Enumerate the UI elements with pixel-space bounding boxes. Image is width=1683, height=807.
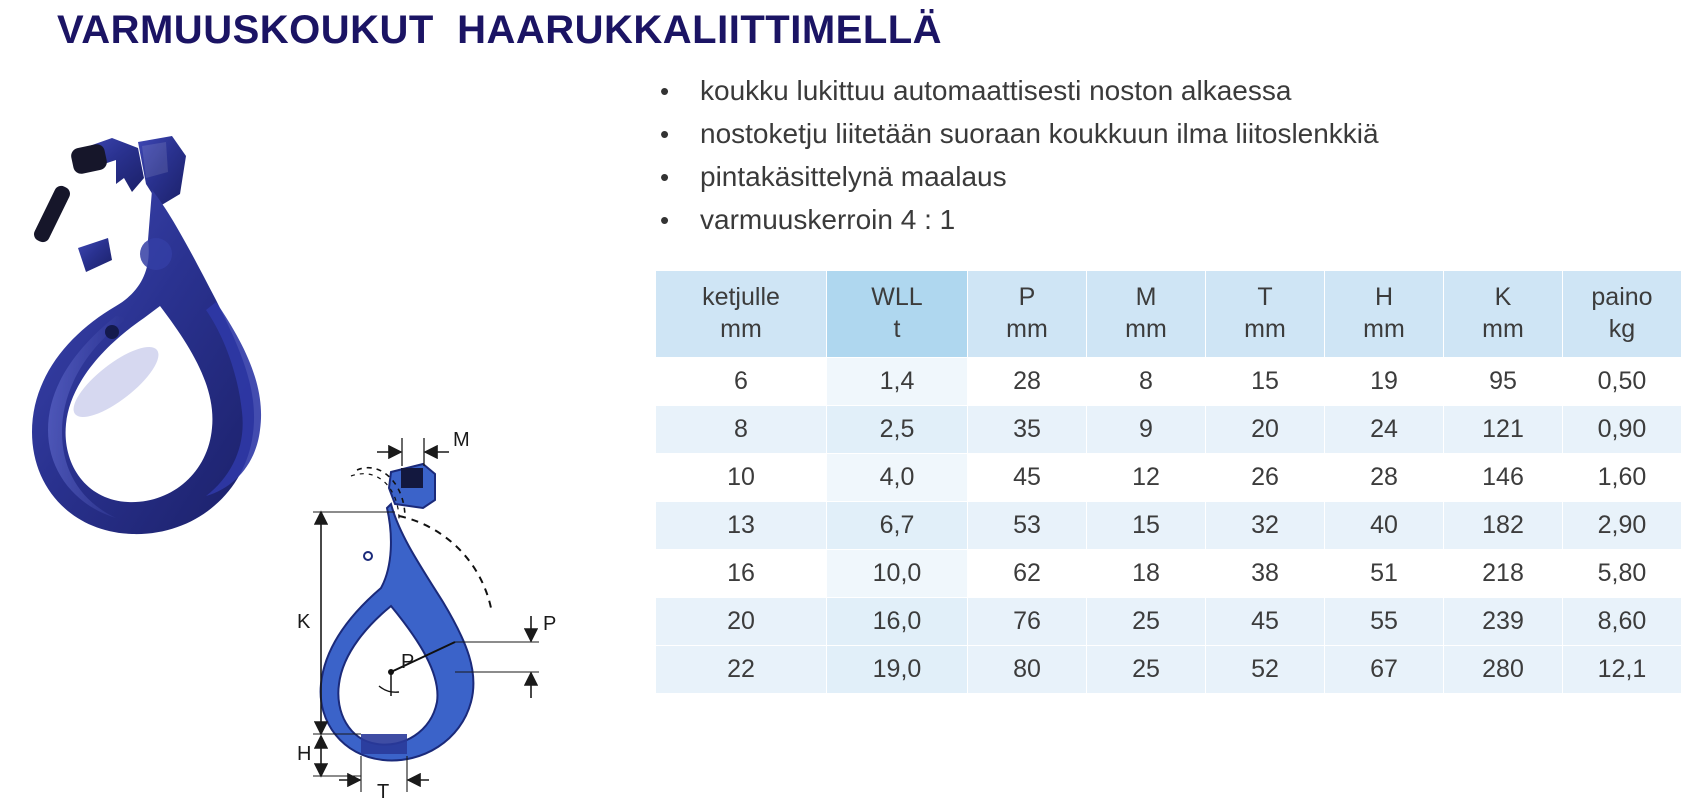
cell-m: 9 bbox=[1087, 406, 1206, 454]
feature-list: • koukku lukittuu automaattisesti noston… bbox=[660, 72, 1560, 244]
header-line2: mm bbox=[1325, 313, 1443, 345]
list-item: • koukku lukittuu automaattisesti noston… bbox=[660, 72, 1560, 110]
cell-paino: 1,60 bbox=[1563, 454, 1682, 502]
cell-m: 18 bbox=[1087, 550, 1206, 598]
bullet-icon: • bbox=[660, 74, 700, 108]
cell-k: 280 bbox=[1444, 646, 1563, 694]
cell-paino: 0,90 bbox=[1563, 406, 1682, 454]
cell-p: 53 bbox=[968, 502, 1087, 550]
cell-m: 12 bbox=[1087, 454, 1206, 502]
cell-t: 20 bbox=[1206, 406, 1325, 454]
table-header-t: T mm bbox=[1206, 271, 1325, 358]
header-line2: mm bbox=[1444, 313, 1562, 345]
cell-k: 239 bbox=[1444, 598, 1563, 646]
table-row: 22 19,0 80 25 52 67 280 12,1 bbox=[656, 646, 1682, 694]
cell-ketjulle: 6 bbox=[656, 358, 827, 406]
header-line2: t bbox=[827, 313, 967, 345]
table-row: 8 2,5 35 9 20 24 121 0,90 bbox=[656, 406, 1682, 454]
table-row: 10 4,0 45 12 26 28 146 1,60 bbox=[656, 454, 1682, 502]
cell-ketjulle: 20 bbox=[656, 598, 827, 646]
header-line1: paino bbox=[1591, 283, 1652, 311]
header-line2: mm bbox=[656, 313, 826, 345]
cell-h: 28 bbox=[1325, 454, 1444, 502]
table-header-ketjulle: ketjulle mm bbox=[656, 271, 827, 358]
cell-m: 15 bbox=[1087, 502, 1206, 550]
list-item-label: nostoketju liitetään suoraan koukkuun il… bbox=[700, 115, 1379, 153]
cell-t: 32 bbox=[1206, 502, 1325, 550]
header-line1: K bbox=[1495, 283, 1512, 311]
cell-k: 218 bbox=[1444, 550, 1563, 598]
cell-ketjulle: 10 bbox=[656, 454, 827, 502]
header-line1: ketjulle bbox=[702, 283, 780, 311]
cell-p: 35 bbox=[968, 406, 1087, 454]
table-header-h: H mm bbox=[1325, 271, 1444, 358]
cell-wll: 10,0 bbox=[827, 550, 968, 598]
dim-label-k: K bbox=[297, 611, 311, 633]
header-line2: mm bbox=[1206, 313, 1324, 345]
bullet-icon: • bbox=[660, 160, 700, 194]
cell-k: 121 bbox=[1444, 406, 1563, 454]
header-line1: M bbox=[1136, 283, 1157, 311]
cell-ketjulle: 13 bbox=[656, 502, 827, 550]
table-header-k: K mm bbox=[1444, 271, 1563, 358]
bullet-icon: • bbox=[660, 203, 700, 237]
dim-label-p-right: P bbox=[543, 613, 556, 635]
list-item: • pintakäsittelynä maalaus bbox=[660, 158, 1560, 196]
header-line1: P bbox=[1019, 283, 1036, 311]
table-header-row: ketjulle mm WLL t P mm M mm T mm bbox=[656, 271, 1682, 358]
cell-wll: 2,5 bbox=[827, 406, 968, 454]
header-line1: H bbox=[1375, 283, 1393, 311]
cell-paino: 2,90 bbox=[1563, 502, 1682, 550]
cell-ketjulle: 16 bbox=[656, 550, 827, 598]
table-header-m: M mm bbox=[1087, 271, 1206, 358]
cell-t: 26 bbox=[1206, 454, 1325, 502]
cell-m: 25 bbox=[1087, 646, 1206, 694]
product-photo bbox=[20, 120, 320, 580]
cell-h: 55 bbox=[1325, 598, 1444, 646]
cell-p: 28 bbox=[968, 358, 1087, 406]
cell-h: 51 bbox=[1325, 550, 1444, 598]
cell-paino: 8,60 bbox=[1563, 598, 1682, 646]
cell-wll: 16,0 bbox=[827, 598, 968, 646]
dim-label-m: M bbox=[453, 430, 470, 451]
cell-ketjulle: 8 bbox=[656, 406, 827, 454]
cell-p: 62 bbox=[968, 550, 1087, 598]
cell-h: 40 bbox=[1325, 502, 1444, 550]
cell-paino: 12,1 bbox=[1563, 646, 1682, 694]
cell-wll: 19,0 bbox=[827, 646, 968, 694]
table-row: 16 10,0 62 18 38 51 218 5,80 bbox=[656, 550, 1682, 598]
cell-p: 76 bbox=[968, 598, 1087, 646]
list-item-label: koukku lukittuu automaattisesti noston a… bbox=[700, 72, 1291, 110]
cell-paino: 0,50 bbox=[1563, 358, 1682, 406]
cell-p: 80 bbox=[968, 646, 1087, 694]
cell-ketjulle: 22 bbox=[656, 646, 827, 694]
cell-h: 67 bbox=[1325, 646, 1444, 694]
cell-k: 95 bbox=[1444, 358, 1563, 406]
cell-t: 15 bbox=[1206, 358, 1325, 406]
header-line2: mm bbox=[968, 313, 1086, 345]
list-item: • varmuuskerroin 4 : 1 bbox=[660, 201, 1560, 239]
table-header-p: P mm bbox=[968, 271, 1087, 358]
cell-wll: 4,0 bbox=[827, 454, 968, 502]
cell-wll: 6,7 bbox=[827, 502, 968, 550]
table-row: 13 6,7 53 15 32 40 182 2,90 bbox=[656, 502, 1682, 550]
cell-p: 45 bbox=[968, 454, 1087, 502]
cell-t: 45 bbox=[1206, 598, 1325, 646]
bullet-icon: • bbox=[660, 117, 700, 151]
dim-label-p-inner: P bbox=[401, 651, 414, 673]
list-item: • nostoketju liitetään suoraan koukkuun … bbox=[660, 115, 1560, 153]
table-row: 6 1,4 28 8 15 19 95 0,50 bbox=[656, 358, 1682, 406]
cell-h: 24 bbox=[1325, 406, 1444, 454]
header-line2: kg bbox=[1563, 313, 1681, 345]
cell-t: 52 bbox=[1206, 646, 1325, 694]
dim-label-t: T bbox=[377, 781, 389, 800]
dim-label-h: H bbox=[297, 743, 311, 765]
page-title: VARMUUSKOUKUT HAARUKKALIITTIMELLÄ bbox=[57, 8, 942, 53]
cell-k: 182 bbox=[1444, 502, 1563, 550]
specification-table: ketjulle mm WLL t P mm M mm T mm bbox=[655, 270, 1682, 694]
list-item-label: pintakäsittelynä maalaus bbox=[700, 158, 1007, 196]
page: VARMUUSKOUKUT HAARUKKALIITTIMELLÄ bbox=[0, 0, 1683, 807]
cell-paino: 5,80 bbox=[1563, 550, 1682, 598]
table-header-wll: WLL t bbox=[827, 271, 968, 358]
cell-h: 19 bbox=[1325, 358, 1444, 406]
cell-m: 8 bbox=[1087, 358, 1206, 406]
cell-m: 25 bbox=[1087, 598, 1206, 646]
cell-t: 38 bbox=[1206, 550, 1325, 598]
header-line1: T bbox=[1257, 283, 1272, 311]
list-item-label: varmuuskerroin 4 : 1 bbox=[700, 201, 955, 239]
header-line1: WLL bbox=[871, 283, 922, 311]
header-line2: mm bbox=[1087, 313, 1205, 345]
table-row: 20 16,0 76 25 45 55 239 8,60 bbox=[656, 598, 1682, 646]
cell-wll: 1,4 bbox=[827, 358, 968, 406]
cell-k: 146 bbox=[1444, 454, 1563, 502]
dimension-drawing: M K P P H T bbox=[295, 430, 585, 800]
table-header-paino: paino kg bbox=[1563, 271, 1682, 358]
